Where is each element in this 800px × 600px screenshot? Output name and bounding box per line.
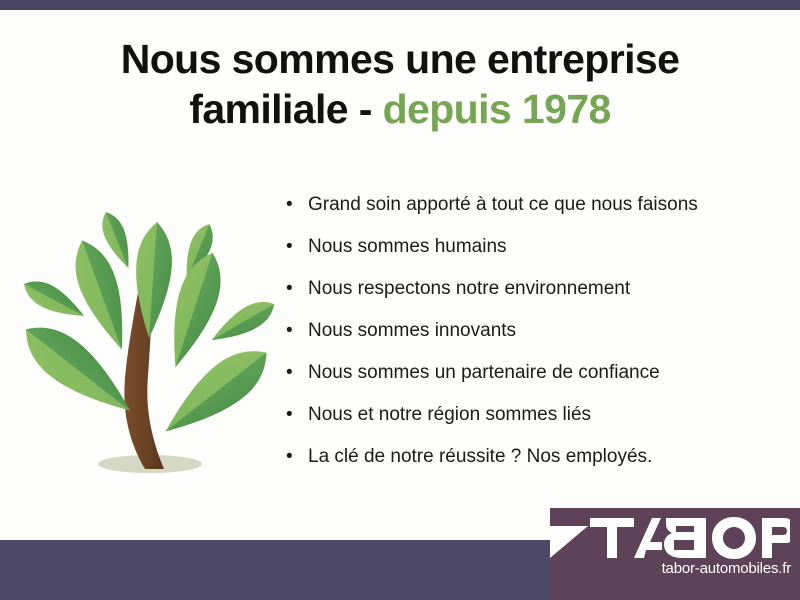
leaf: [153, 336, 280, 448]
bullet-marker-icon: •: [286, 402, 308, 428]
list-item: • Nous sommes innovants: [286, 318, 786, 360]
list-item-label: Nous sommes un partenaire de confiance: [308, 360, 660, 386]
list-item: • Nous sommes un partenaire de confiance: [286, 360, 786, 402]
list-item: • Nous respectons notre environnement: [286, 276, 786, 318]
tree-illustration: [12, 192, 280, 490]
title-dash: -: [348, 86, 383, 132]
top-accent-bar: [0, 0, 800, 10]
logo-wordmark-glyphs: [590, 516, 790, 560]
bullet-marker-icon: •: [286, 192, 308, 218]
list-item: • La clé de notre réussite ? Nos employé…: [286, 444, 786, 486]
logo-tagline: tabor-automobiles.fr: [550, 560, 800, 577]
bullet-marker-icon: •: [286, 318, 308, 344]
bullet-marker-icon: •: [286, 276, 308, 302]
list-item-label: La clé de notre réussite ? Nos employés.: [308, 444, 652, 470]
bullet-list: • Grand soin apporté à tout ce que nous …: [286, 192, 786, 486]
bullet-marker-icon: •: [286, 360, 308, 386]
title-line-1: Nous sommes une entreprise: [0, 34, 800, 84]
list-item: • Nous sommes humains: [286, 234, 786, 276]
title-word-familiale: familiale: [189, 86, 348, 132]
bullet-marker-icon: •: [286, 444, 308, 470]
leaf: [206, 294, 280, 350]
list-item-label: Grand soin apporté à tout ce que nous fa…: [308, 192, 698, 218]
list-item-label: Nous sommes innovants: [308, 318, 516, 344]
page-title: Nous sommes une entreprise familiale - d…: [0, 34, 800, 134]
leaf: [13, 312, 144, 428]
bullet-marker-icon: •: [286, 234, 308, 260]
slide: Nous sommes une entreprise familiale - d…: [0, 0, 800, 600]
list-item: • Nous et notre région sommes liés: [286, 402, 786, 444]
tabor-logo[interactable]: tabor-automobiles.fr: [550, 508, 800, 600]
list-item-label: Nous respectons notre environnement: [308, 276, 630, 302]
list-item-label: Nous sommes humains: [308, 234, 507, 260]
title-accent-since: depuis 1978: [383, 86, 611, 132]
list-item: • Grand soin apporté à tout ce que nous …: [286, 192, 786, 234]
list-item-label: Nous et notre région sommes liés: [308, 402, 591, 428]
title-line-2: familiale - depuis 1978: [0, 84, 800, 134]
